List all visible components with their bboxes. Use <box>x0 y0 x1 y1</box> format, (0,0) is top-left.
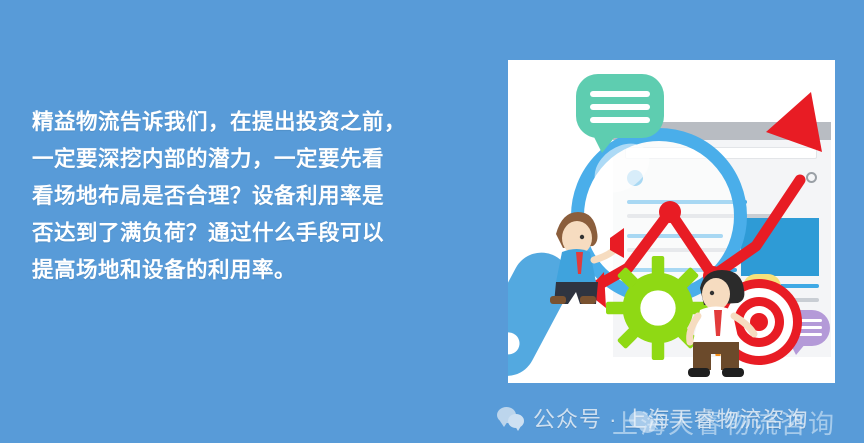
businessman-with-target <box>676 266 766 383</box>
wechat-icon <box>497 407 524 430</box>
wechat-watermark-icon <box>627 409 657 435</box>
headline-line-2: 一定要深挖内部的潜力，一定要先看 <box>32 141 452 178</box>
teal-speech-bubble-icon <box>576 74 664 138</box>
footer-text: 公众号 · 上海天睿物流咨询 <box>533 402 809 434</box>
headline-line-1: 精益物流告诉我们，在提出投资之前， <box>32 104 452 141</box>
headline-line-3: 看场地布局是否合理？设备利用率是 <box>32 178 452 215</box>
headline-line-4: 否达到了满负荷？通过什么手段可以 <box>32 215 452 252</box>
headline-text-block: 精益物流告诉我们，在提出投资之前， 一定要深挖内部的潜力，一定要先看 看场地布局… <box>32 104 452 289</box>
headline-line-5: 提高场地和设备的利用率。 <box>32 252 452 289</box>
businessman-with-megaphone <box>514 190 624 305</box>
illustration-card <box>508 60 835 383</box>
slide-canvas: 精益物流告诉我们，在提出投资之前， 一定要深挖内部的潜力，一定要先看 看场地布局… <box>0 0 864 443</box>
